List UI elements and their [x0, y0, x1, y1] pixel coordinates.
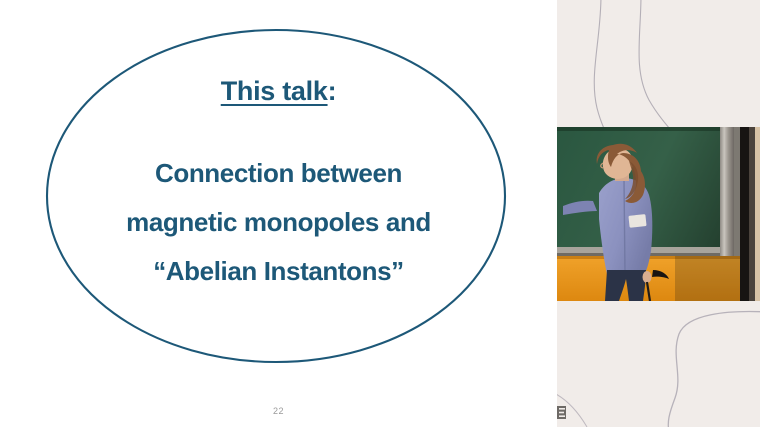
slide-body-line: Connection between	[126, 149, 431, 198]
speaker-video-feed[interactable]	[557, 127, 760, 301]
camera-panel	[557, 0, 760, 427]
screen-capture: This talk: Connection between magnetic m…	[0, 0, 760, 427]
slide-body-line: “Abelian Instantons”	[126, 247, 431, 296]
presentation-slide: This talk: Connection between magnetic m…	[0, 0, 557, 427]
slide-body-text: Connection between magnetic monopoles an…	[126, 149, 431, 296]
slide-heading-underlined: This talk	[221, 76, 328, 106]
lecture-hall-scene	[557, 127, 760, 301]
slide-content: This talk: Connection between magnetic m…	[0, 0, 557, 427]
slide-body-line: magnetic monopoles and	[126, 198, 431, 247]
venue-logo-icon	[557, 406, 566, 419]
slide-heading: This talk:	[221, 76, 337, 107]
slide-page-number: 22	[0, 406, 557, 416]
slide-heading-colon: :	[328, 76, 337, 106]
